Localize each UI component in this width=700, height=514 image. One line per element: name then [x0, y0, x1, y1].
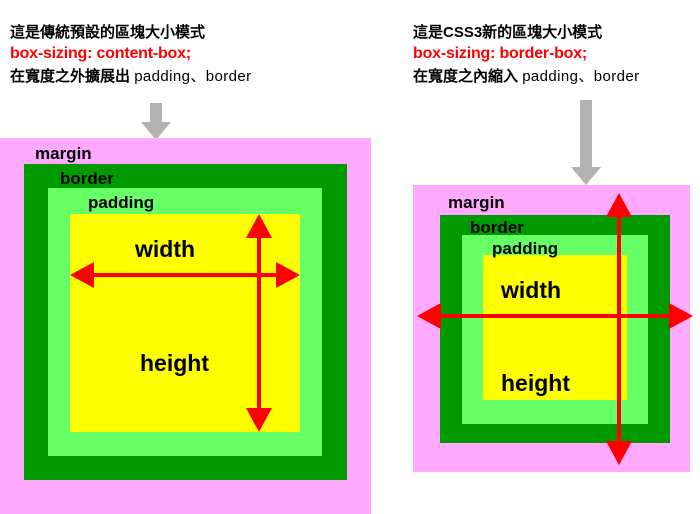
margin-label: margin — [448, 193, 505, 213]
arrow-head-bottom — [246, 408, 272, 432]
arrow-shaft — [150, 103, 162, 123]
width-label: width — [501, 277, 561, 304]
caption-note-properties: padding、border — [522, 68, 639, 85]
arrow-shaft — [617, 203, 621, 455]
caption-line-note: 在寬度之內縮入 padding、border — [413, 66, 640, 87]
caption-line-note: 在寬度之外擴展出 padding、border — [10, 66, 252, 87]
width-label: width — [135, 236, 195, 263]
caption-line-description: 這是傳統預設的區塊大小模式 — [10, 22, 252, 43]
arrow-head-left — [417, 303, 441, 329]
arrow-head-top — [606, 193, 632, 217]
caption-line-code: box-sizing: content-box; — [10, 43, 252, 66]
height-label: height — [501, 370, 570, 397]
padding-label: padding — [492, 239, 558, 259]
arrow-head-bottom — [606, 441, 632, 465]
caption-line-description: 這是CSS3新的區塊大小模式 — [413, 22, 640, 43]
arrow-head-top — [246, 214, 272, 238]
arrow-shaft — [580, 100, 592, 168]
arrow-head-right — [669, 303, 693, 329]
caption-note-properties: padding、border — [134, 68, 251, 85]
caption-note-prefix: 在寬度之外擴展出 — [10, 68, 130, 85]
height-label: height — [140, 350, 209, 377]
caption-content-box: 這是傳統預設的區塊大小模式 box-sizing: content-box; 在… — [10, 22, 252, 87]
margin-label: margin — [35, 144, 92, 164]
border-label: border — [470, 218, 524, 238]
caption-border-box: 這是CSS3新的區塊大小模式 box-sizing: border-box; 在… — [413, 22, 640, 87]
arrow-head-right — [276, 262, 300, 288]
caption-line-code: box-sizing: border-box; — [413, 43, 640, 66]
caption-note-prefix: 在寬度之內縮入 — [413, 68, 518, 85]
box-model-diagram-border-box: margin border padding width height — [413, 185, 690, 472]
arrow-shaft — [257, 224, 261, 422]
width-arrow — [417, 303, 693, 329]
box-model-diagram-content-box: margin border padding width height — [0, 138, 371, 514]
height-arrow — [606, 193, 632, 465]
height-arrow — [246, 214, 272, 432]
arrow-head — [571, 167, 601, 185]
padding-label: padding — [88, 193, 154, 213]
arrow-shaft — [427, 314, 683, 318]
arrow-head-left — [70, 262, 94, 288]
border-label: border — [60, 169, 114, 189]
